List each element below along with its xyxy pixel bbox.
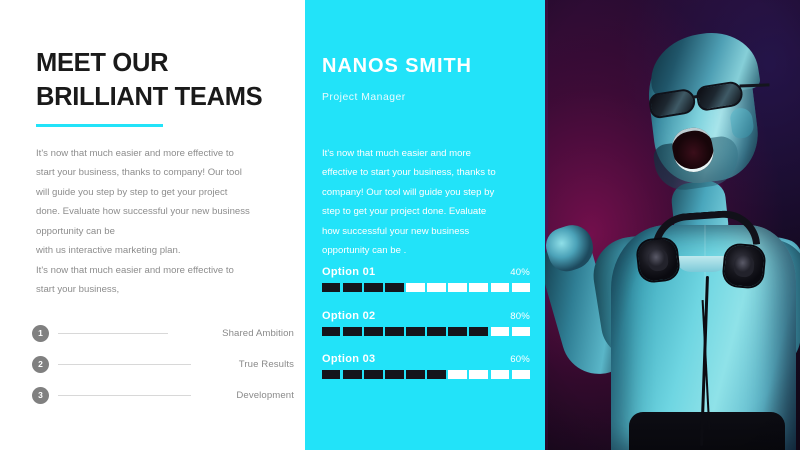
list-item-rule	[58, 333, 168, 334]
list-item-number-badge: 1	[32, 325, 49, 342]
list-item-label: Development	[191, 390, 294, 401]
left-body-line: will guide you step by step to get your …	[36, 183, 276, 202]
skill-segment-empty	[491, 370, 509, 379]
skill-segment-empty	[491, 283, 509, 292]
skill-bar-header: Option 01 40%	[322, 266, 530, 278]
skill-bar-percent: 40%	[510, 267, 530, 278]
list-item-number-badge: 2	[32, 356, 49, 373]
skill-segment-filled	[343, 370, 361, 379]
skill-segment-empty	[406, 283, 424, 292]
profile-body-text: It's now that much easier and more effec…	[322, 144, 528, 261]
skill-segment-filled	[343, 327, 361, 336]
skill-segment-filled	[469, 327, 487, 336]
profile-panel: NANOS SMITH Project Manager It's now tha…	[305, 0, 545, 450]
skill-segment-filled	[385, 283, 403, 292]
title-accent-rule	[36, 124, 163, 127]
list-item-number-badge: 3	[32, 387, 49, 404]
skill-segment-empty	[512, 283, 530, 292]
left-body-line: done. Evaluate how successful your new b…	[36, 202, 276, 221]
page-title: MEET OUR BRILLIANT TEAMS	[36, 47, 298, 114]
left-body-line: start your business,	[36, 280, 276, 299]
profile-body-line: opportunity can be .	[322, 241, 528, 260]
skill-segment-empty	[448, 283, 466, 292]
left-body-line: start your business, thanks to company! …	[36, 163, 276, 182]
profile-body-line: company! Our tool will guide you step by	[322, 183, 528, 202]
skill-segment-filled	[322, 370, 340, 379]
skill-bar-label: Option 01	[322, 266, 375, 278]
skill-segment-empty	[512, 327, 530, 336]
left-body-line: opportunity can be	[36, 222, 276, 241]
list-item[interactable]: 3 Development	[32, 380, 294, 411]
skill-segment-filled	[385, 370, 403, 379]
left-body-text: It's now that much easier and more effec…	[36, 144, 276, 300]
list-item-rule	[58, 395, 191, 396]
left-body-line: It's now that much easier and more effec…	[36, 144, 276, 163]
left-panel: MEET OUR BRILLIANT TEAMS It's now that m…	[0, 0, 305, 450]
list-item[interactable]: 2 True Results	[32, 349, 294, 380]
skill-segment-filled	[364, 327, 382, 336]
list-item-label: True Results	[191, 359, 294, 370]
profile-body-line: step to get your project done. Evaluate	[322, 202, 528, 221]
skill-bar-track	[322, 327, 530, 336]
skill-segment-filled	[385, 327, 403, 336]
skill-bar-header: Option 03 60%	[322, 353, 530, 365]
skill-bar-track	[322, 283, 530, 292]
profile-body-line: how successful your new business	[322, 222, 528, 241]
portrait-photo	[545, 0, 800, 450]
headphone-ear-cup-right	[723, 244, 764, 287]
skill-bar-option-03: Option 03 60%	[322, 353, 530, 379]
skill-segment-empty	[469, 370, 487, 379]
skill-segment-empty	[491, 327, 509, 336]
skill-bars-group: Option 01 40% Option 02 80% Option 03 60…	[322, 266, 530, 397]
skill-bar-track	[322, 370, 530, 379]
left-body-line: with us interactive marketing plan.	[36, 241, 276, 260]
skill-bar-header: Option 02 80%	[322, 310, 530, 322]
skill-segment-empty	[469, 283, 487, 292]
skill-segment-filled	[322, 283, 340, 292]
skill-segment-filled	[406, 370, 424, 379]
skill-bar-option-02: Option 02 80%	[322, 310, 530, 336]
skill-segment-empty	[512, 370, 530, 379]
skill-segment-filled	[406, 327, 424, 336]
skill-segment-filled	[322, 327, 340, 336]
skill-bar-percent: 80%	[510, 311, 530, 322]
person-name: NANOS SMITH	[322, 55, 472, 78]
numbered-feature-list: 1 Shared Ambition 2 True Results 3 Devel…	[32, 318, 294, 411]
list-item-label: Shared Ambition	[168, 328, 294, 339]
person-role: Project Manager	[322, 92, 406, 103]
skill-segment-filled	[427, 370, 445, 379]
skill-bar-label: Option 03	[322, 353, 375, 365]
headphone-ear-cup-left	[637, 238, 679, 282]
profile-body-line: effective to start your business, thanks…	[322, 163, 528, 182]
skill-segment-filled	[427, 327, 445, 336]
skill-bar-label: Option 02	[322, 310, 375, 322]
skill-segment-filled	[343, 283, 361, 292]
skill-bar-percent: 60%	[510, 354, 530, 365]
photo-figure	[545, 0, 800, 450]
skill-segment-filled	[364, 283, 382, 292]
skill-segment-empty	[427, 283, 445, 292]
sunglasses-temple	[739, 83, 769, 87]
shirt-collar	[675, 256, 729, 272]
list-item-rule	[58, 364, 191, 365]
skill-segment-empty	[448, 370, 466, 379]
left-body-line: It's now that much easier and more effec…	[36, 261, 276, 280]
list-item[interactable]: 1 Shared Ambition	[32, 318, 294, 349]
skill-bar-option-01: Option 01 40%	[322, 266, 530, 292]
skill-segment-filled	[364, 370, 382, 379]
slide-canvas: MEET OUR BRILLIANT TEAMS It's now that m…	[0, 0, 800, 450]
skill-segment-filled	[448, 327, 466, 336]
profile-body-line: It's now that much easier and more	[322, 144, 528, 163]
